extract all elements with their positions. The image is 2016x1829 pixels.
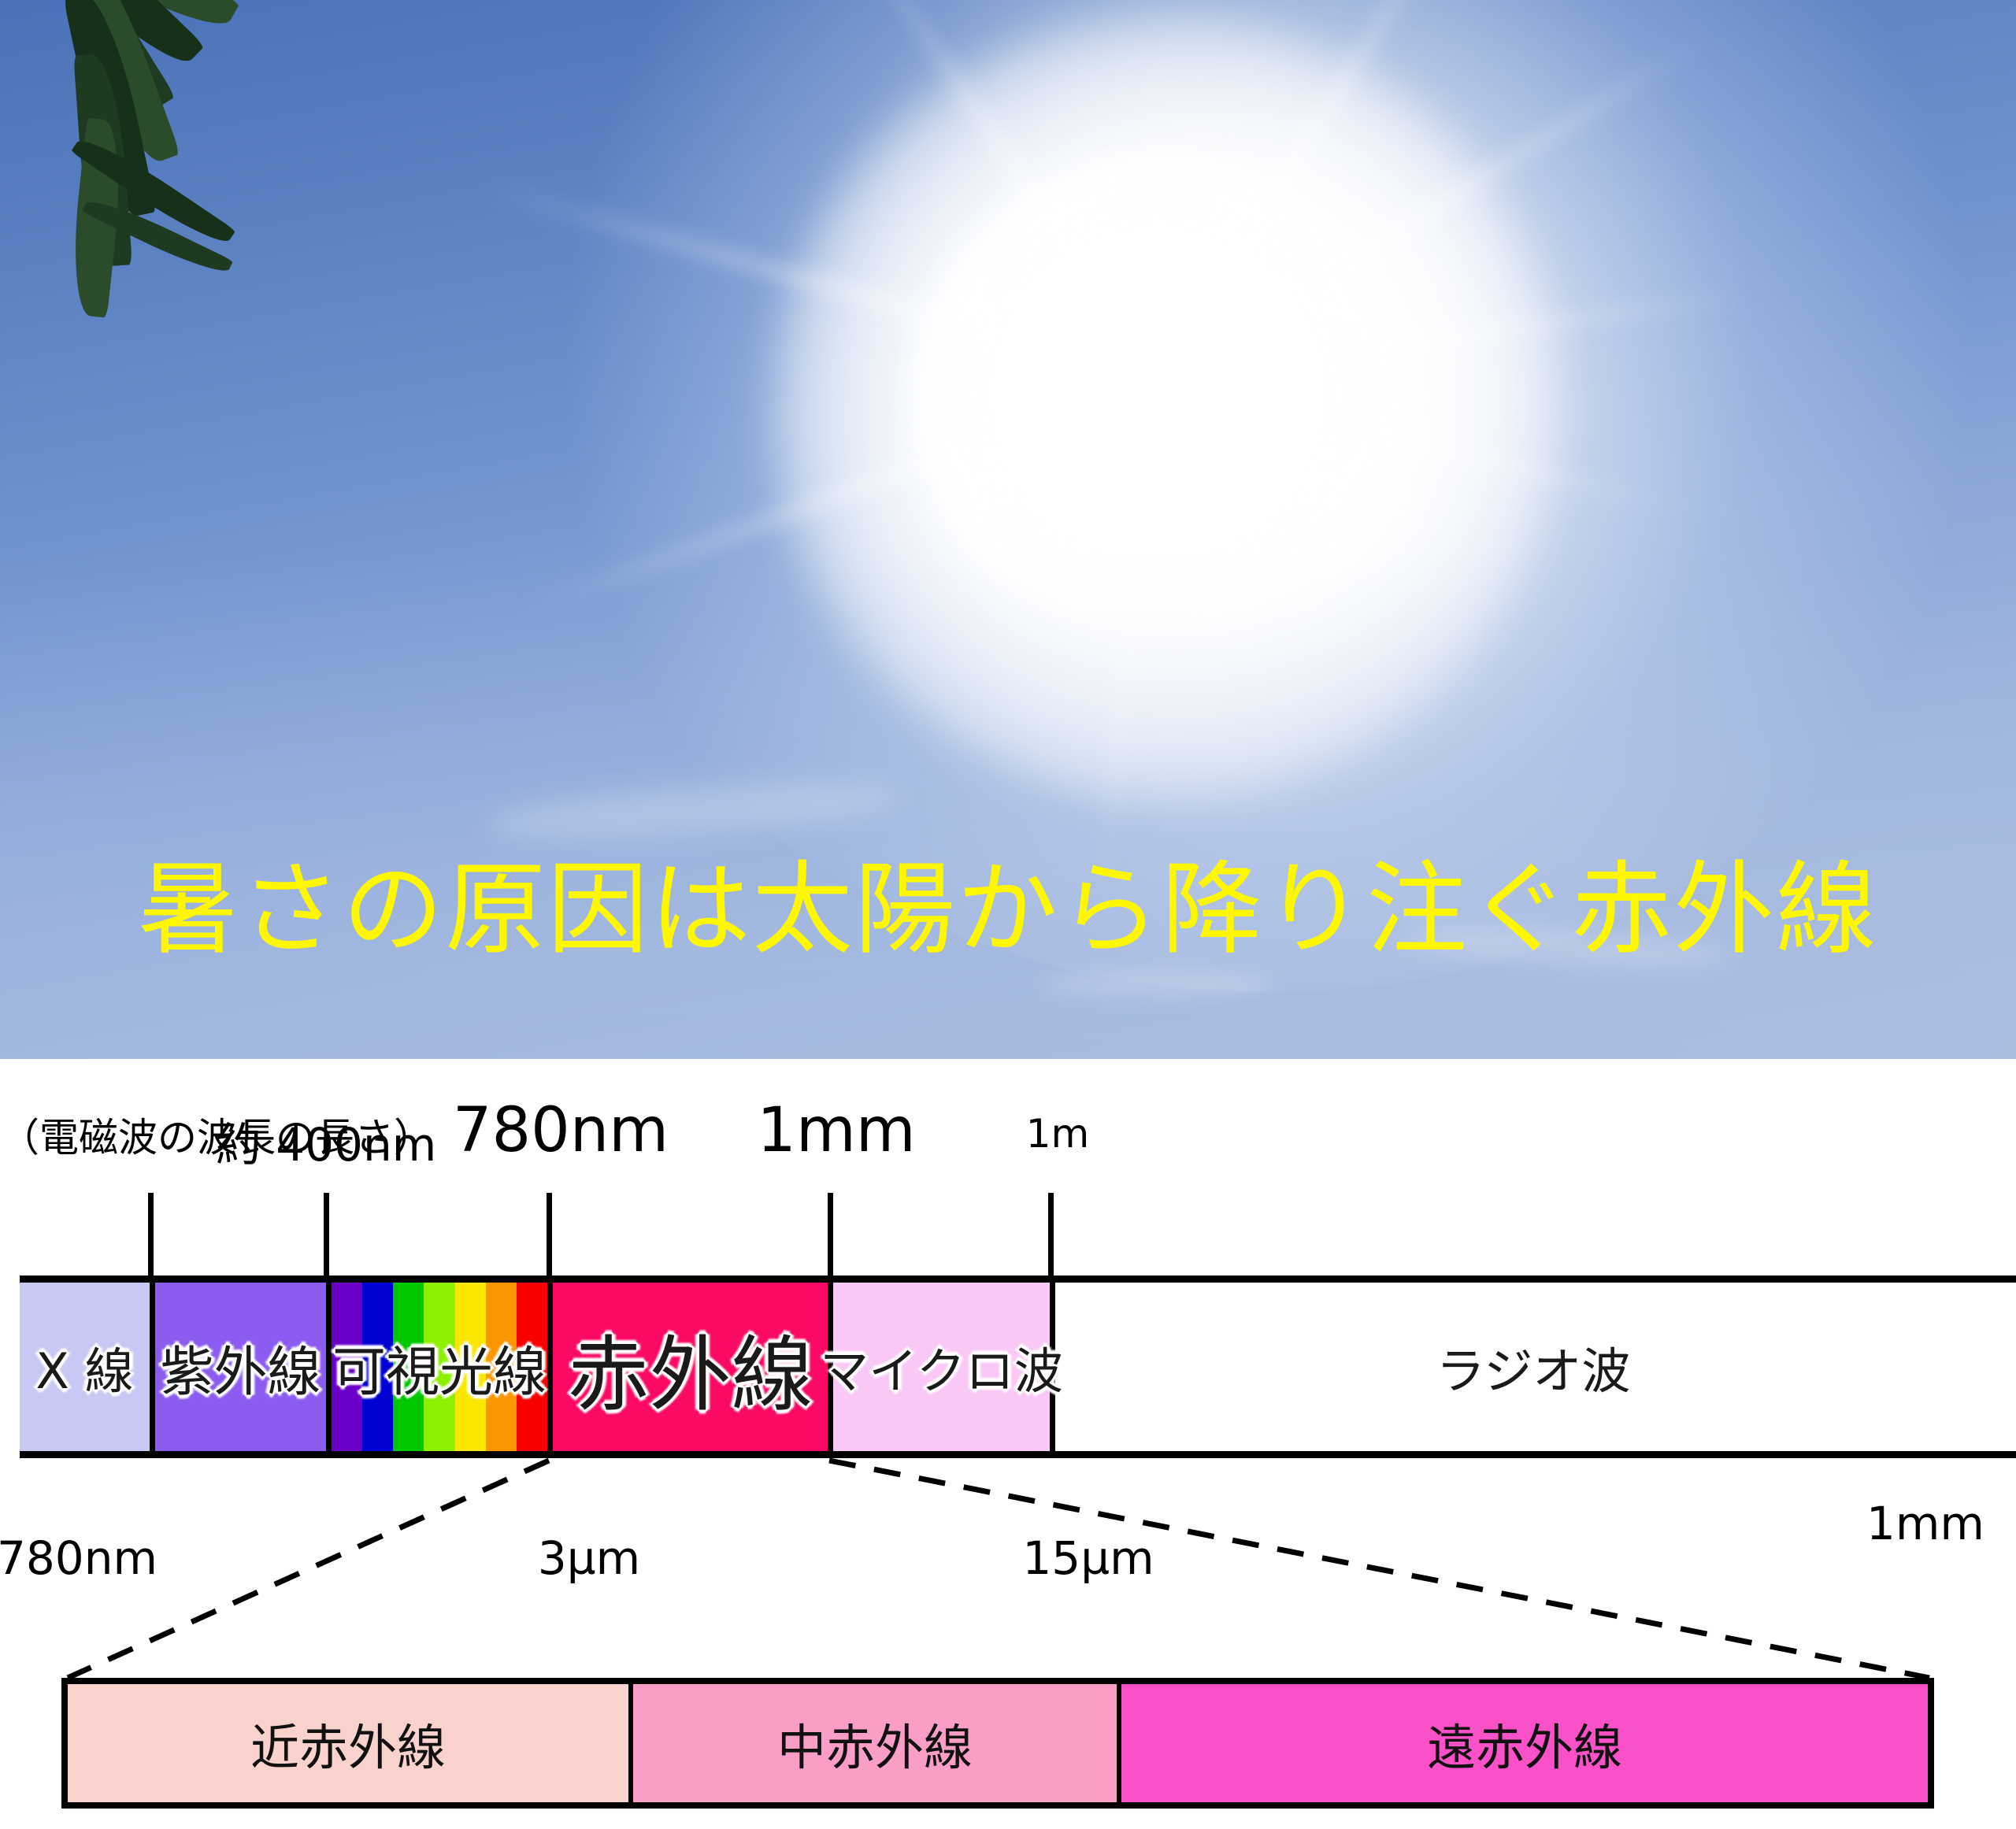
spectrum-band-visible[interactable]: 可視光線 [332, 1283, 553, 1451]
ir-scale-label-15um: 15µm [1022, 1531, 1154, 1585]
ir-scale-label-780nm: 780nm [0, 1531, 157, 1585]
ir-band-near[interactable]: 近赤外線 [68, 1684, 633, 1802]
tick-mark [148, 1193, 154, 1281]
page-title: 暑さの原因は太陽から降り注ぐ赤外線 [138, 849, 1878, 972]
tick-mark [324, 1193, 329, 1281]
spectrum-band-infrared[interactable]: 赤外線 [553, 1283, 833, 1451]
spectrum-band-microwave-label: マイクロ波 [820, 1331, 1063, 1402]
infrared-subband-bar: 近赤外線 中赤外線 遠赤外線 [61, 1678, 1934, 1809]
tick-mark [547, 1193, 552, 1281]
ir-band-middle[interactable]: 中赤外線 [633, 1684, 1121, 1802]
infrared-spectrum-infographic: 暑さの原因は太陽から降り注ぐ赤外線 （電磁波の波長の長さ） 約 400nm 78… [0, 0, 2016, 1829]
ir-band-near-label: 近赤外線 [250, 1708, 446, 1779]
spectrum-diagram: （電磁波の波長の長さ） 約 400nm 780nm 1mm 1m X 線 紫外線 [0, 1059, 2016, 1829]
spectrum-band-microwave[interactable]: マイクロ波 [833, 1283, 1055, 1451]
ir-band-far[interactable]: 遠赤外線 [1121, 1684, 1928, 1802]
electromagnetic-spectrum-bar: X 線 紫外線 可視光線 赤外線 [20, 1275, 2016, 1458]
tick-mark [1048, 1193, 1054, 1281]
ir-scale-label-3um: 3µm [538, 1531, 640, 1585]
cloud-wisp [1039, 968, 1276, 1000]
spectrum-band-ultraviolet-label: 紫外線 [160, 1328, 321, 1406]
palm-tree [0, 0, 283, 409]
scale-label-1m: 1m [1026, 1111, 1090, 1157]
sky-haze [0, 551, 2016, 1059]
spectrum-band-radiowave[interactable]: ラジオ波 [1055, 1283, 2011, 1451]
title-container: 暑さの原因は太陽から降り注ぐ赤外線 [0, 849, 2016, 972]
scale-label-1mm: 1mm [757, 1095, 916, 1166]
ir-band-middle-label: 中赤外線 [777, 1708, 973, 1779]
ir-band-far-label: 遠赤外線 [1427, 1708, 1622, 1779]
spectrum-band-ultraviolet[interactable]: 紫外線 [155, 1283, 332, 1451]
spectrum-band-xray[interactable]: X 線 [20, 1283, 155, 1451]
spectrum-band-visible-label: 可視光線 [332, 1328, 547, 1406]
spectrum-band-radiowave-label: ラジオ波 [1436, 1331, 1631, 1402]
ir-scale-label-1mm: 1mm [1866, 1497, 1984, 1550]
spectrum-band-infrared-label: 赤外線 [567, 1308, 813, 1427]
scale-label-780nm: 780nm [453, 1095, 669, 1166]
tick-mark [828, 1193, 833, 1281]
sky-sun-photo: 暑さの原因は太陽から降り注ぐ赤外線 [0, 0, 2016, 1059]
scale-label-400nm: 約 400nm [216, 1108, 436, 1174]
spectrum-band-xray-label: X 線 [35, 1331, 133, 1402]
connector-line-right [829, 1461, 1929, 1678]
